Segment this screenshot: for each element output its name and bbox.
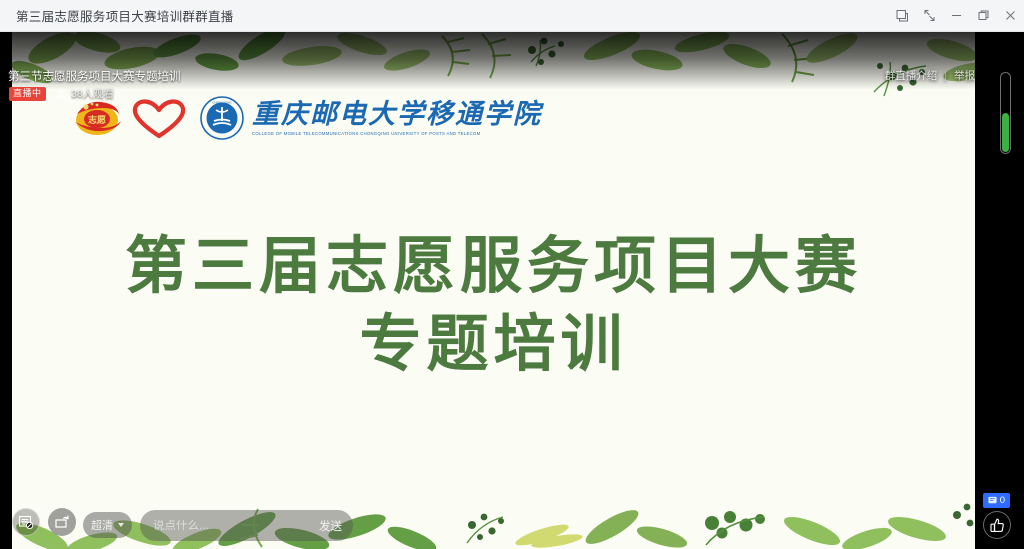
screenshot-icon[interactable] [889,0,916,32]
slide-stage: 志愿 [12,32,975,549]
window-title: 第三届志愿服务项目大赛培训群群直播 [16,6,234,25]
quality-selector[interactable]: 超清 [83,512,132,538]
chat-input-bar[interactable]: 发送 [140,510,353,541]
shrink-arrow-icon[interactable] [916,0,943,32]
chat-input[interactable] [153,520,293,532]
viewer-count-label: 38人观看 [71,86,114,101]
live-stream-window: 第三届志愿服务项目大赛培训群群直播 [0,0,1024,549]
svg-text:CHONGQING: CHONGQING [212,101,232,105]
svg-text:志愿: 志愿 [88,114,106,125]
report-link[interactable]: 举报 [954,68,975,83]
volume-slider[interactable] [1000,72,1011,154]
live-status-badge: 直播中 [9,87,46,101]
note-edit-icon[interactable] [12,508,40,536]
volume-slider-fill [1002,113,1009,152]
minimize-icon[interactable] [943,0,970,32]
slide-title-line-2: 专题培训 [12,306,975,384]
school-name-cn: 重庆邮电大学移通学院 [252,100,542,128]
send-button[interactable]: 发送 [319,518,342,534]
heart-icon [128,96,190,140]
window-controls [889,0,1024,32]
restore-icon[interactable] [970,0,997,32]
school-name-block: 重庆邮电大学移通学院 COLLEGE OF MOBILE TELECOMMUNI… [252,100,542,135]
window-titlebar: 第三届志愿服务项目大赛培训群群直播 [0,0,1024,32]
top-right-links: 群直播介绍 | 举报 [885,68,975,83]
live-stream-title: 第三节志愿服务项目大赛专题培训 [8,68,181,84]
like-small-icon [988,496,997,505]
university-seal-icon: CHONGQING [200,96,244,140]
close-icon[interactable] [997,0,1024,32]
quality-label: 超清 [91,517,113,533]
slide-title-line-1: 第三届志愿服务项目大赛 [12,228,975,306]
player-bottom-bar: 超清 发送 0 [0,497,1024,549]
volunteer-emblem-icon: 志愿 [70,96,124,140]
slide-title: 第三届志愿服务项目大赛 专题培训 [12,228,975,384]
like-count-badge[interactable]: 0 [983,493,1010,508]
video-player[interactable]: 志愿 [0,32,1024,549]
like-count-label: 0 [1000,496,1005,506]
stream-intro-link[interactable]: 群直播介绍 [885,68,938,83]
chevron-down-icon [118,523,124,527]
screen-share-icon[interactable] [48,508,76,536]
logo-row: 志愿 [70,92,542,144]
school-name-en: COLLEGE OF MOBILE TELECOMMUNICATIONS CHO… [252,131,542,136]
thumbs-up-icon[interactable] [983,511,1011,539]
viewer-count: 38人观看 [56,86,114,101]
link-separator: | [944,70,947,82]
person-icon [56,88,67,99]
